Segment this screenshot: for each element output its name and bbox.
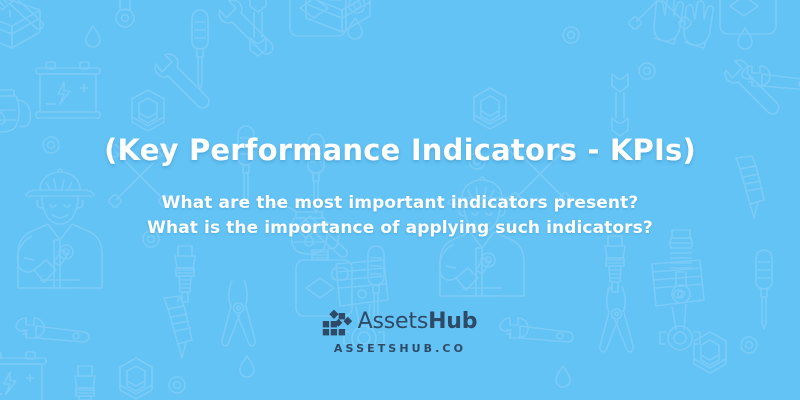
logo-url[interactable]: ASSETSHUB.CO bbox=[334, 342, 466, 355]
subtitle-line-2: What is the importance of applying such … bbox=[147, 216, 653, 242]
subtitle-block: What are the most important indicators p… bbox=[147, 191, 653, 242]
kpi-banner: (Key Performance Indicators - KPIs) What… bbox=[0, 0, 800, 400]
assetshub-blocks-icon bbox=[323, 308, 353, 336]
subtitle-line-1: What are the most important indicators p… bbox=[147, 191, 653, 217]
logo-row: AssetsHub bbox=[323, 308, 478, 336]
wordmark: AssetsHub bbox=[358, 311, 478, 333]
brand-logo[interactable]: AssetsHub ASSETSHUB.CO bbox=[323, 308, 478, 355]
page-title: (Key Performance Indicators - KPIs) bbox=[104, 133, 696, 168]
wordmark-assets: Assets bbox=[358, 309, 428, 334]
wordmark-hub: Hub bbox=[428, 309, 477, 334]
